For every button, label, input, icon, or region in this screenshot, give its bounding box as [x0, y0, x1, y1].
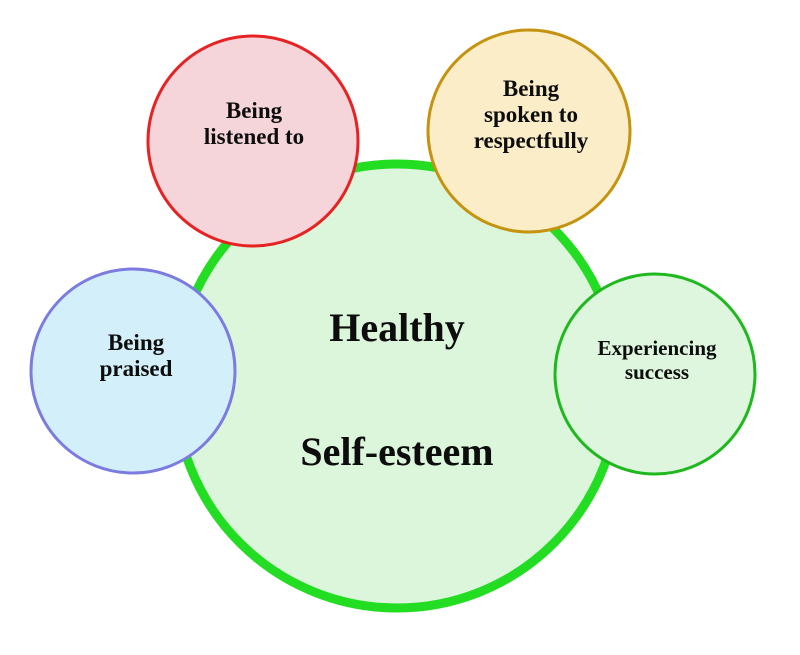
satellite-circle-experiencing-success[interactable] — [555, 274, 755, 474]
satellite-circle-being-praised[interactable] — [31, 269, 235, 473]
satellite-circle-being-spoken-to-respectfully[interactable] — [428, 30, 630, 232]
diagram-shapes — [0, 0, 800, 655]
diagram-canvas: Healthy Self-esteem Being listened to Be… — [0, 0, 800, 655]
satellite-circle-being-listened-to[interactable] — [148, 36, 358, 246]
